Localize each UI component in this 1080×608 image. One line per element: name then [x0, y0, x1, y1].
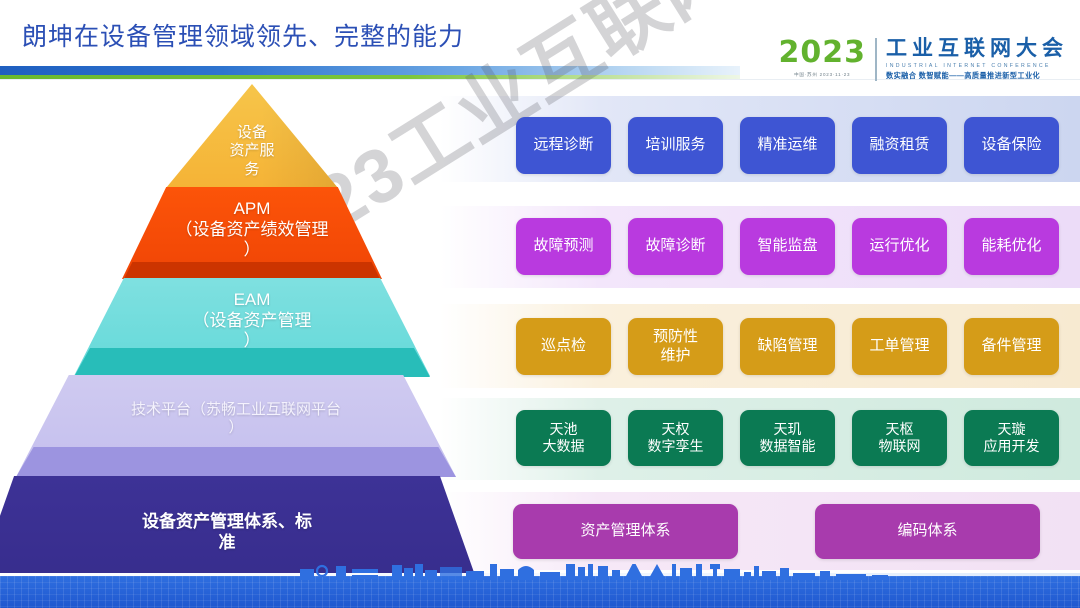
card-label-line-2: 大数据 — [543, 438, 585, 456]
card-label: 巡点检 — [541, 337, 586, 356]
card-row-platform: 天池 大数据 天权 数字孪生 天玑 数据智能 天枢 物联网 天璇 应用开发 — [516, 410, 1059, 466]
card-label: 故障诊断 — [645, 237, 705, 256]
card-defect-management[interactable]: 缺陷管理 — [740, 318, 835, 375]
card-tianquan-digital-twin[interactable]: 天权 数字孪生 — [628, 410, 723, 466]
card-energy-optimization[interactable]: 能耗优化 — [964, 218, 1059, 275]
card-label-line-1: 天玑 — [774, 421, 802, 439]
card-label-line-1: 天权 — [662, 421, 690, 439]
card-precision-maintenance[interactable]: 精准运维 — [740, 117, 835, 174]
card-label: 运行优化 — [869, 237, 929, 256]
logo-name-en: INDUSTRIAL INTERNET CONFERENCE — [886, 63, 1068, 69]
pyramid-level-4-line-2: ） — [228, 419, 243, 437]
header-accent-bar-blue — [0, 66, 740, 75]
capability-pyramid: 设备 资产服 务 APM （设备资产绩效管理 ） EAM （设备资产管理 ） — [0, 84, 460, 576]
card-fault-diagnosis[interactable]: 故障诊断 — [628, 218, 723, 275]
footer-decoration — [0, 564, 1080, 608]
card-label: 智能监盘 — [757, 237, 817, 256]
card-spare-parts-management[interactable]: 备件管理 — [964, 318, 1059, 375]
card-training-service[interactable]: 培训服务 — [628, 117, 723, 174]
logo-slogan: 数实融合 数智赋能——高质量推进新型工业化 — [886, 71, 1068, 81]
card-label: 融资租赁 — [869, 136, 929, 155]
card-preventive-maintenance[interactable]: 预防性 维护 — [628, 318, 723, 375]
pyramid-level-1-line-2: 资产服 — [229, 142, 274, 160]
card-fault-prediction[interactable]: 故障预测 — [516, 218, 611, 275]
logo-name-cn: 工业互联网大会 — [886, 38, 1068, 60]
pyramid-level-1-line-1: 设备 — [237, 124, 267, 142]
logo-year-note: 中国·苏州 2023·11·23 — [779, 72, 867, 78]
card-label: 备件管理 — [981, 337, 1041, 356]
logo-separator — [875, 38, 877, 81]
card-label: 培训服务 — [645, 136, 705, 155]
pyramid-level-1-label: 设备 资产服 务 — [166, 84, 338, 188]
pyramid-level-4-label: 技术平台（苏畅工业互联网平台 ） — [16, 375, 456, 477]
footer-water-band — [0, 576, 1080, 608]
card-remote-diagnosis[interactable]: 远程诊断 — [516, 117, 611, 174]
pyramid-level-equipment-asset-service[interactable]: 设备 资产服 务 — [166, 84, 338, 188]
card-label: 设备保险 — [981, 136, 1041, 155]
card-row-apm: 故障预测 故障诊断 智能监盘 运行优化 能耗优化 — [516, 218, 1059, 275]
card-label: 精准运维 — [757, 136, 817, 155]
card-operation-optimization[interactable]: 运行优化 — [852, 218, 947, 275]
pyramid-level-3-line-2: （设备资产管理 — [193, 311, 312, 332]
card-label-line-1: 预防性 — [653, 328, 698, 347]
slide-canvas: 朗坤在设备管理领域领先、完整的能力 2023 中国·苏州 2023·11·23 … — [0, 0, 1080, 608]
card-work-order-management[interactable]: 工单管理 — [852, 318, 947, 375]
card-row-eam: 巡点检 预防性 维护 缺陷管理 工单管理 备件管理 — [516, 318, 1059, 375]
page-title: 朗坤在设备管理领域领先、完整的能力 — [22, 17, 464, 53]
card-tianxuan-app-development[interactable]: 天璇 应用开发 — [964, 410, 1059, 466]
pyramid-level-2-line-1: APM — [234, 199, 271, 220]
pyramid-level-2-line-2: （设备资产绩效管理 — [176, 220, 329, 241]
pyramid-level-apm[interactable]: APM （设备资产绩效管理 ） — [122, 187, 382, 279]
pyramid-level-5-line-1: 设备资产管理体系、标 — [142, 512, 312, 533]
card-tianshu-iot[interactable]: 天枢 物联网 — [852, 410, 947, 466]
card-coding-system[interactable]: 编码体系 — [815, 504, 1040, 559]
city-skyline-icon — [0, 564, 1080, 580]
card-label: 远程诊断 — [533, 136, 593, 155]
pyramid-level-3-label: EAM （设备资产管理 ） — [74, 278, 430, 376]
card-label-line-2: 应用开发 — [984, 438, 1040, 456]
card-label-line-1: 天枢 — [886, 421, 914, 439]
pyramid-level-3-line-3: ） — [244, 331, 261, 352]
pyramid-level-eam[interactable]: EAM （设备资产管理 ） — [74, 278, 430, 376]
card-label: 资产管理体系 — [580, 522, 670, 541]
card-tianji-data-intelligence[interactable]: 天玑 数据智能 — [740, 410, 835, 466]
card-label: 能耗优化 — [981, 237, 1041, 256]
card-label-line-2: 数字孪生 — [648, 438, 704, 456]
pyramid-level-tech-platform[interactable]: 技术平台（苏畅工业互联网平台 ） — [16, 375, 456, 477]
logo-name-block: 工业互联网大会 INDUSTRIAL INTERNET CONFERENCE 数… — [886, 38, 1068, 81]
pyramid-level-1-line-3: 务 — [244, 161, 259, 179]
card-equipment-insurance[interactable]: 设备保险 — [964, 117, 1059, 174]
card-label: 故障预测 — [533, 237, 593, 256]
card-label-line-2: 数据智能 — [760, 438, 816, 456]
card-inspection[interactable]: 巡点检 — [516, 318, 611, 375]
card-asset-management-system[interactable]: 资产管理体系 — [513, 504, 738, 559]
card-label: 缺陷管理 — [757, 337, 817, 356]
card-financial-leasing[interactable]: 融资租赁 — [852, 117, 947, 174]
card-label: 编码体系 — [897, 522, 957, 541]
logo-year-block: 2023 中国·苏州 2023·11·23 — [779, 38, 876, 78]
card-row-standards: 资产管理体系 编码体系 — [513, 504, 1040, 559]
card-label: 工单管理 — [869, 337, 929, 356]
logo-year: 2023 — [779, 38, 867, 68]
pyramid-level-3-line-1: EAM — [234, 290, 271, 311]
conference-logo: 2023 中国·苏州 2023·11·23 工业互联网大会 INDUSTRIAL… — [779, 38, 1069, 81]
pyramid-level-5-line-2: 准 — [219, 533, 236, 554]
card-intelligent-monitoring[interactable]: 智能监盘 — [740, 218, 835, 275]
pyramid-level-4-line-1: 技术平台（苏畅工业互联网平台 — [131, 401, 341, 419]
card-label-line-2: 维护 — [660, 347, 690, 366]
card-label-line-1: 天璇 — [998, 421, 1026, 439]
card-label-line-1: 天池 — [550, 421, 578, 439]
pyramid-level-2-line-3: ） — [244, 240, 261, 261]
card-label-line-2: 物联网 — [879, 438, 921, 456]
card-row-service: 远程诊断 培训服务 精准运维 融资租赁 设备保险 — [516, 117, 1059, 174]
card-tianchi-bigdata[interactable]: 天池 大数据 — [516, 410, 611, 466]
pyramid-level-2-label: APM （设备资产绩效管理 ） — [122, 187, 382, 279]
